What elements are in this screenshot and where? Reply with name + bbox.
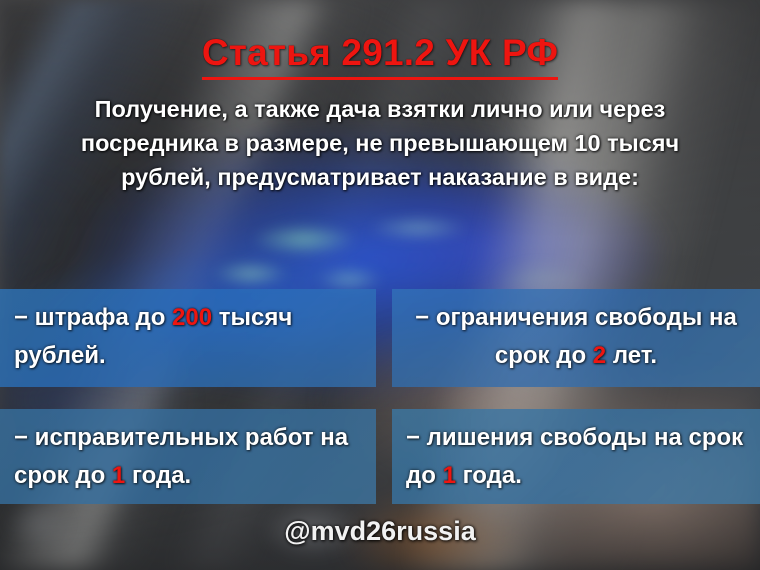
penalty-card-corrective: − исправительных работ на срок до 1 года… (0, 409, 376, 504)
poster-content: Статья 291.2 УК РФ Получение, а также да… (0, 0, 760, 570)
penalty-imprisonment-suffix: года. (456, 462, 522, 489)
page-title-text: Статья 291.2 УК РФ (202, 32, 558, 80)
penalty-restriction-suffix: лет. (606, 342, 657, 369)
poster: Статья 291.2 УК РФ Получение, а также да… (0, 0, 760, 570)
penalty-restriction-prefix: − ограничения свободы на срок до (415, 304, 737, 369)
penalty-card-restriction: − ограничения свободы на срок до 2 лет. (392, 289, 760, 387)
page-title: Статья 291.2 УК РФ (0, 34, 760, 71)
social-handle: @mvd26russia (0, 516, 760, 547)
penalty-fine-prefix: − штрафа до (14, 304, 172, 331)
penalty-imprisonment-value: 1 (443, 462, 456, 489)
penalty-restriction-value: 2 (593, 342, 606, 369)
penalty-corrective-value: 1 (112, 462, 125, 489)
penalty-card-imprisonment: − лишения свободы на срок до 1 года. (392, 409, 760, 504)
intro-paragraph: Получение, а также дача взятки лично или… (46, 92, 714, 194)
penalty-corrective-suffix: года. (125, 462, 191, 489)
penalty-card-fine: − штрафа до 200 тысяч рублей. (0, 289, 376, 387)
penalty-fine-value: 200 (172, 304, 212, 331)
